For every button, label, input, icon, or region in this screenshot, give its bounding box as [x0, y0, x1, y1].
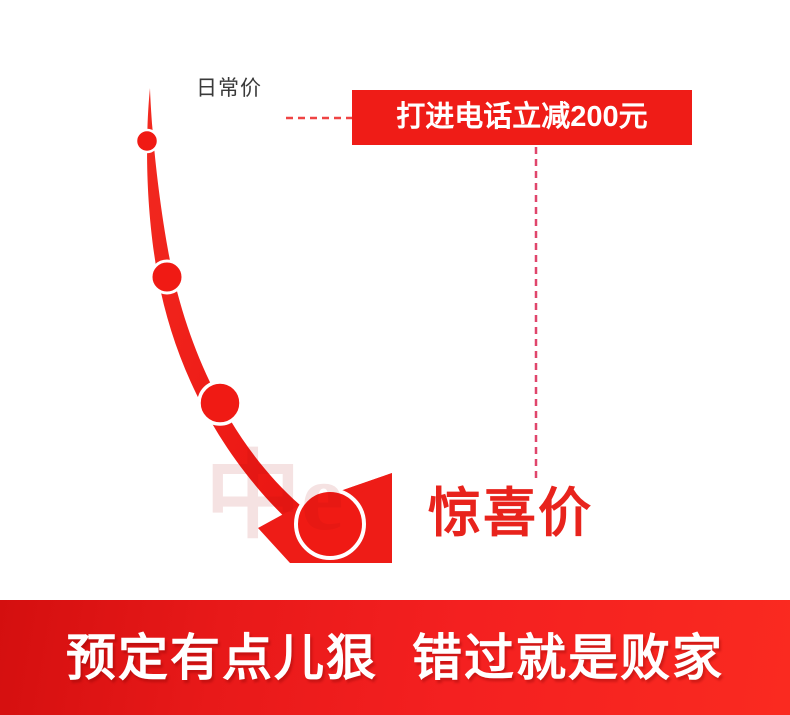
arrow-marker-3 — [199, 382, 241, 424]
arrow-marker-4 — [296, 490, 364, 558]
arrow-marker-1 — [136, 130, 158, 152]
promo-banner-text: 打进电话立减200元 — [396, 103, 647, 132]
arrow-curve-body — [147, 88, 330, 556]
arrow-marker-group — [136, 130, 364, 558]
arrow-marker-2 — [151, 261, 183, 293]
slogan-right: 错过就是败家 — [412, 633, 724, 683]
promo-banner[interactable]: 打进电话立减200元 — [352, 90, 692, 145]
daily-price-label: 日常价 — [196, 72, 262, 102]
surprise-price-label: 惊喜价 — [428, 487, 593, 540]
promo-graphic-canvas: 日常价 打进电话立减200元 中e 惊喜价 预定有点儿狠 错过就是败家 ol — [0, 0, 790, 715]
slogan-left: 预定有点儿狠 — [66, 633, 378, 683]
bottom-slogan-bar: 预定有点儿狠 错过就是败家 ol — [0, 600, 790, 715]
